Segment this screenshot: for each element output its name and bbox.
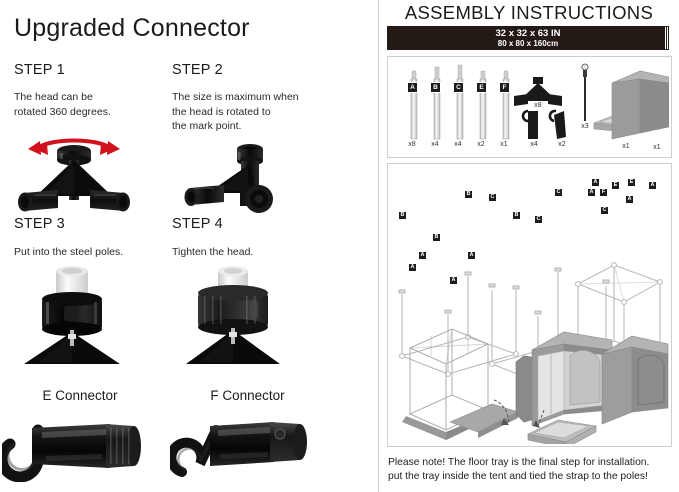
- tent-closed: [602, 336, 668, 424]
- product-instruction-sheet: Upgraded Connector STEP 1 The head can b…: [0, 0, 679, 492]
- size-imperial: 32 x 32 x 63 IN: [496, 28, 561, 39]
- diagram-tag-e-1: E: [612, 182, 619, 189]
- part-qty-e: x2: [471, 141, 491, 148]
- step-2-heading: STEP 2: [172, 62, 223, 78]
- diagram-tag-b-4: B: [513, 212, 520, 219]
- assembly-title: ASSEMBLY INSTRUCTIONS: [379, 2, 679, 24]
- diagram-tag-a-7: A: [588, 189, 595, 196]
- tent-open-door: [516, 332, 612, 426]
- part-qty-tray: x1: [616, 143, 636, 150]
- frame-stage-1: [399, 272, 519, 376]
- e-connector-label: E Connector: [0, 388, 160, 403]
- step-4-image-pole-tightened: [176, 262, 298, 366]
- step-3-heading: STEP 3: [14, 216, 65, 232]
- step-2-image-connector-rotated: [178, 140, 288, 218]
- step-1-text: The head can be rotated 360 degrees.: [14, 90, 164, 119]
- diagram-tag-b-3: B: [433, 234, 440, 241]
- part-qty-a: x8: [402, 141, 422, 148]
- part-tag-f: F: [499, 82, 510, 93]
- part-qty-f: x1: [494, 141, 514, 148]
- page-title: Upgraded Connector: [14, 14, 250, 43]
- step-1-image-three-way-connector: [14, 130, 134, 216]
- grow-tent-icon: [612, 71, 669, 139]
- diagram-tag-c-1: C: [489, 194, 496, 201]
- parts-list-box: A B C E F x8 x4 x4 x2 x1 x8 x3 x4 x2 x1 …: [387, 56, 672, 158]
- f-connector-image: [170, 412, 330, 490]
- right-panel-assembly-instructions: ASSEMBLY INSTRUCTIONS 32 x 32 x 63 IN 80…: [379, 0, 679, 492]
- part-qty-corner-connector: x8: [528, 102, 548, 109]
- size-banner: 32 x 32 x 63 IN 80 x 80 x 160cm: [387, 26, 669, 50]
- part-qty-b: x4: [425, 141, 445, 148]
- diagram-tag-e-2: E: [628, 179, 635, 186]
- part-qty-e-hook: x4: [524, 141, 544, 148]
- step-1-heading: STEP 1: [14, 62, 65, 78]
- e-connector-image: [2, 412, 162, 482]
- final-assembly-row: [402, 322, 668, 444]
- diagram-tag-a-6: A: [649, 182, 656, 189]
- part-qty-c: x4: [448, 141, 468, 148]
- installation-note: Please note! The floor tray is the final…: [388, 456, 678, 483]
- step-4-heading: STEP 4: [172, 216, 223, 232]
- diagram-tag-b-1: B: [399, 212, 406, 219]
- barcode-icon: [664, 27, 670, 49]
- step-2-text: The size is maximum when the head is rot…: [172, 90, 337, 134]
- diagram-tag-a-1: A: [419, 252, 426, 259]
- strap-icon: [582, 64, 588, 121]
- step-4-text: Tighten the head.: [172, 245, 332, 260]
- diagram-tag-c-4: C: [601, 207, 608, 214]
- diagram-tag-a-3: A: [450, 277, 457, 284]
- part-qty-f-hook: x2: [552, 141, 572, 148]
- diagram-tag-c-2: C: [535, 216, 542, 223]
- step-3-image-pole-inserted: [16, 262, 138, 366]
- assembly-diagram-box: B B B B A A A A C C C C A E E A A F A: [387, 163, 672, 447]
- e-hook-part-icon: [523, 111, 538, 139]
- size-metric: 80 x 80 x 160cm: [498, 39, 559, 49]
- diagram-tag-a-2: A: [409, 264, 416, 271]
- pole-b: [434, 67, 440, 139]
- diagram-tag-f-1: F: [600, 189, 607, 196]
- part-tag-c: C: [453, 82, 464, 93]
- diagram-tag-a-8: A: [626, 196, 633, 203]
- part-tag-e: E: [476, 82, 487, 93]
- diagram-tag-b-2: B: [465, 191, 472, 198]
- left-panel-upgraded-connector: Upgraded Connector STEP 1 The head can b…: [0, 0, 378, 492]
- part-tag-b: B: [430, 82, 441, 93]
- part-qty-tent: x1: [647, 144, 667, 151]
- diagram-tag-a-5: A: [592, 179, 599, 186]
- part-tag-a: A: [407, 82, 418, 93]
- part-qty-strap: x3: [575, 123, 595, 130]
- step-3-text: Put into the steel poles.: [14, 245, 174, 260]
- diagram-tag-c-3: C: [555, 189, 562, 196]
- diagram-tag-a-4: A: [468, 252, 475, 259]
- f-connector-label: F Connector: [160, 388, 335, 403]
- pole-c: [457, 65, 463, 139]
- f-hook-part-icon: [550, 111, 566, 139]
